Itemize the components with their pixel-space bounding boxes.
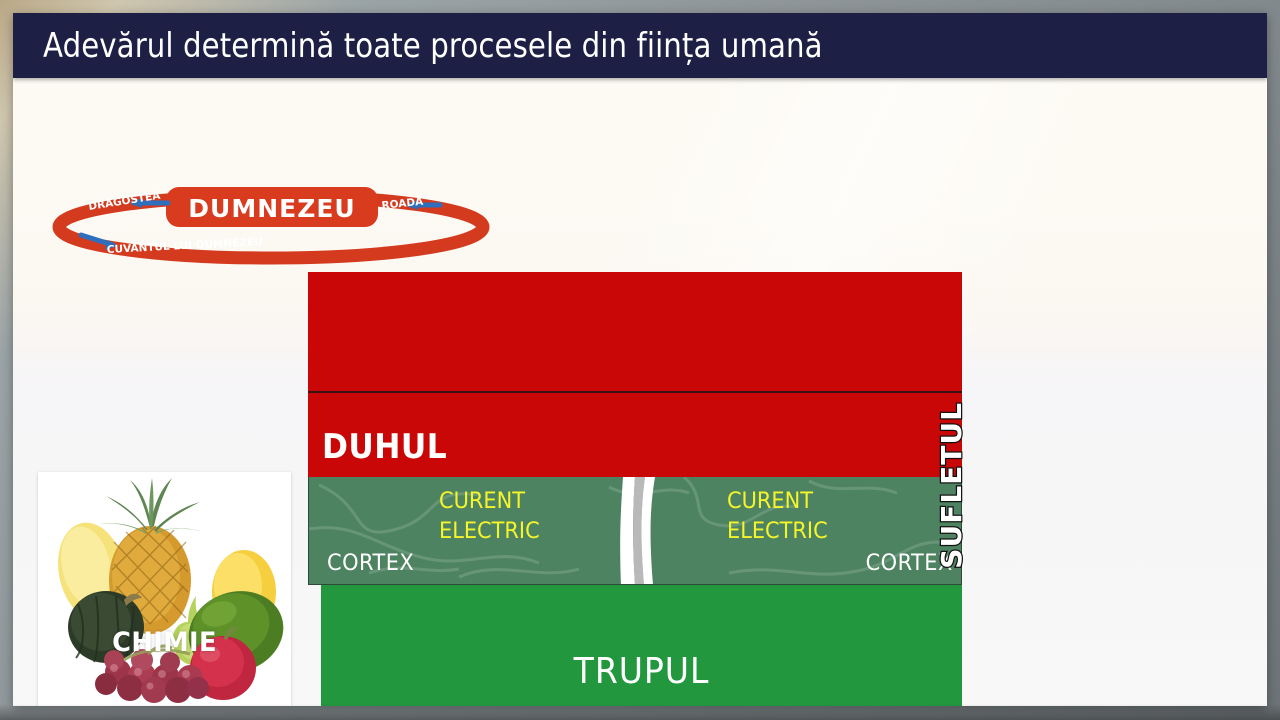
electric-current-left-line1: CURENT	[439, 487, 540, 517]
slide-frame: Adevărul determină toate procesele din f…	[0, 0, 1280, 720]
electric-current-right: CURENT ELECTRIC	[727, 487, 828, 547]
title-bar: Adevărul determină toate procesele din f…	[13, 13, 1267, 78]
electric-current-right-line1: CURENT	[727, 487, 828, 517]
spirit-band: DUHUL	[308, 391, 962, 477]
dumnezeu-cycle-diagram: DUMNEZEU DRAGOSTEA ROADĂ CUVÂNTUL LUI DU…	[41, 167, 501, 267]
electric-current-left-line2: ELECTRIC	[439, 517, 540, 547]
spirit-upper-band	[308, 272, 962, 391]
cortex-label-left: CORTEX	[327, 551, 414, 576]
human-being-diagram: DUHUL	[308, 272, 962, 706]
frame-bottom-shadow	[0, 704, 1280, 720]
electric-current-right-line2: ELECTRIC	[727, 517, 828, 547]
page-title: Adevărul determină toate procesele din f…	[43, 26, 823, 66]
chimie-label: CHIMIE	[44, 627, 284, 658]
assorted-fruit-photo	[38, 472, 291, 706]
chimie-card: CHIMIE	[38, 472, 291, 706]
soul-label: SUFLETUL	[935, 402, 968, 569]
spirit-label: DUHUL	[322, 427, 447, 467]
electric-current-left: CURENT ELECTRIC	[439, 487, 540, 547]
spinal-column-icon	[619, 477, 665, 585]
body-label: TRUPUL	[347, 651, 937, 692]
dumnezeu-center-label: DUMNEZEU	[188, 194, 355, 223]
cortex-band: CORTEX CORTEX CURENT ELECTRIC CURENT ELE…	[308, 477, 962, 585]
body-band: TRUPUL	[321, 585, 962, 706]
slide-canvas: Adevărul determină toate procesele din f…	[13, 13, 1267, 706]
